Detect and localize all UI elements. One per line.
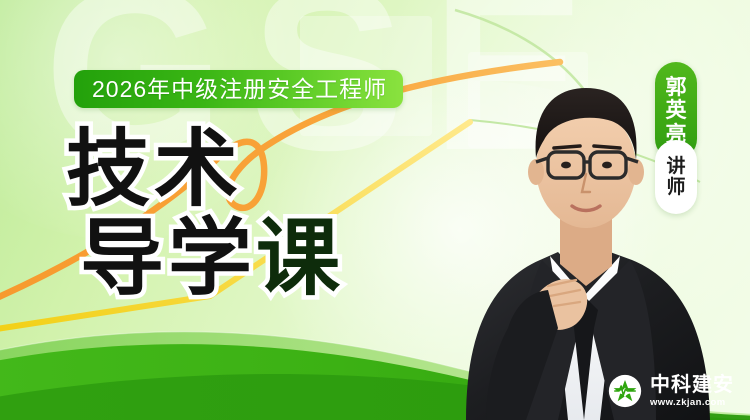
brand-logo: 中科建安 www.zkjan.com [608,374,734,408]
instructor-role-char-1: 师 [666,177,685,198]
headline: 技术 导学课 [66,125,344,303]
headline-line-2-part1: 导学 [80,211,256,305]
instructor-photo [408,28,748,420]
instructor-name-char-0: 郭 [666,76,687,100]
headline-line-2-part2: 课 [256,211,344,305]
course-badge-label: 2026年中级注册安全工程师 [92,78,387,101]
zkjan-star-icon [608,374,642,408]
instructor-role-char-0: 讲 [666,156,685,177]
headline-line-2: 导学课 [80,214,344,303]
headline-line-1: 技术 [66,125,344,214]
brand-name: 中科建安 [650,375,734,395]
course-badge: 2026年中级注册安全工程师 [74,70,403,108]
course-banner: GSE [0,0,750,420]
instructor-role-pill: 讲 师 [655,140,697,214]
instructor-name-char-1: 英 [666,99,687,123]
brand-url: www.zkjan.com [650,398,734,408]
